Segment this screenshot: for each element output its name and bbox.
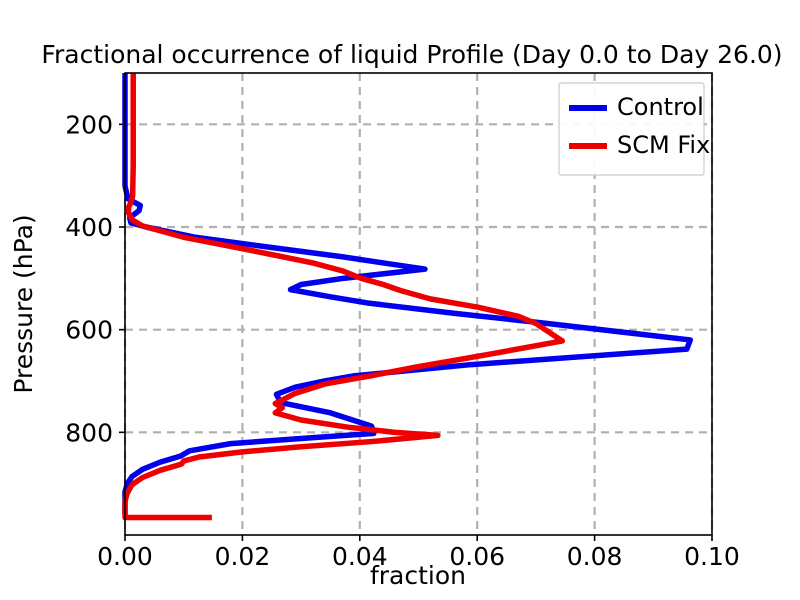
- y-tick-label-3: 800: [65, 418, 113, 447]
- y-tick-label-1: 400: [65, 213, 113, 242]
- x-axis-title: fraction: [370, 561, 466, 590]
- y-axis-title: Pressure (hPa): [9, 214, 38, 393]
- legend-label-control: Control: [617, 93, 704, 121]
- y-tick-label-0: 200: [65, 110, 113, 139]
- liquid-fraction-profile-chart: Fractional occurrence of liquid Profile …: [0, 0, 800, 600]
- y-tick-label-2: 600: [65, 316, 113, 345]
- x-tick-label-0: 0.00: [97, 542, 153, 571]
- figure-canvas: Fractional occurrence of liquid Profile …: [0, 0, 800, 600]
- chart-title: Fractional occurrence of liquid Profile …: [41, 40, 782, 69]
- x-tick-label-4: 0.08: [567, 542, 623, 571]
- legend-label-scm-fix: SCM Fix: [617, 131, 710, 159]
- y-axis-ticks: 200400600800: [65, 110, 125, 447]
- chart-legend[interactable]: ControlSCM Fix: [559, 83, 710, 175]
- x-tick-label-5: 0.10: [684, 542, 740, 571]
- x-tick-label-1: 0.02: [215, 542, 271, 571]
